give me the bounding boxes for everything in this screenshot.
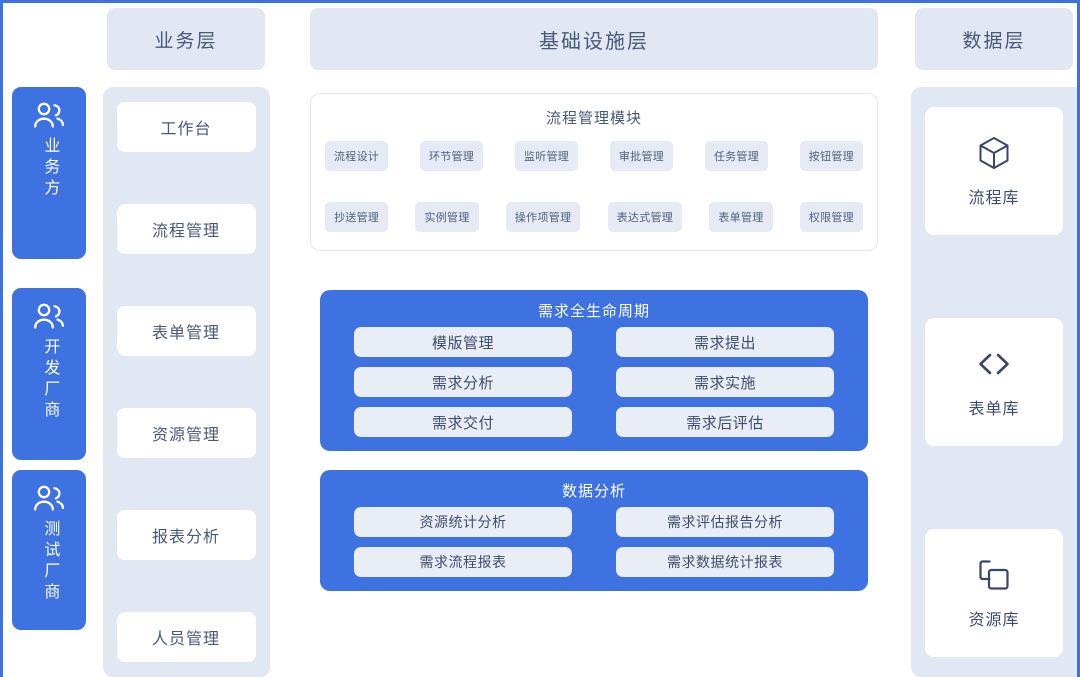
- role-card-dev-vendor[interactable]: 开发厂商: [12, 288, 86, 460]
- analysis-item-resource-statistics[interactable]: 资源统计分析: [354, 507, 572, 537]
- role-card-label: 开发厂商: [41, 338, 58, 422]
- tag-instance-management[interactable]: 实例管理: [415, 202, 478, 232]
- role-card-label: 业务方: [41, 137, 58, 200]
- data-layer-column: 数据层 流程库: [911, 3, 1077, 677]
- role-card-test-vendor[interactable]: 测试厂商: [12, 470, 86, 630]
- business-layer-column: 业务层 工作台 流程管理 表单管理 资源管理 报表分析 人员管理: [95, 3, 277, 677]
- infrastructure-layer-header: 基础设施层: [310, 8, 878, 70]
- data-layer-panel: 流程库 表单库: [911, 87, 1077, 677]
- data-card-resource-repository[interactable]: 资源库: [925, 529, 1063, 657]
- lifecycle-grid: 模版管理 需求提出 需求分析 需求实施 需求交付 需求后评估: [354, 327, 834, 437]
- role-rail: 业务方 开发厂商: [3, 3, 95, 677]
- business-layer-panel: 工作台 流程管理 表单管理 资源管理 报表分析 人员管理: [103, 87, 270, 677]
- data-card-label: 表单库: [968, 395, 1019, 419]
- cube-icon: [975, 134, 1013, 172]
- business-item-form-management[interactable]: 表单管理: [117, 306, 256, 356]
- data-analysis-panel: 数据分析 资源统计分析 需求评估报告分析 需求流程报表 需求数据统计报表: [320, 470, 868, 591]
- lifecycle-item-requirement-implementation[interactable]: 需求实施: [616, 367, 834, 397]
- analysis-item-requirement-process-report[interactable]: 需求流程报表: [354, 547, 572, 577]
- data-layer-header: 数据层: [915, 8, 1073, 70]
- tag-listener-management[interactable]: 监听管理: [515, 141, 578, 171]
- copy-stack-icon: [975, 556, 1013, 594]
- tag-cc-management[interactable]: 抄送管理: [325, 202, 388, 232]
- code-brackets-icon: [975, 345, 1013, 383]
- analysis-grid: 资源统计分析 需求评估报告分析 需求流程报表 需求数据统计报表: [354, 507, 834, 577]
- lifecycle-item-template-management[interactable]: 模版管理: [354, 327, 572, 357]
- lifecycle-item-requirement-submission[interactable]: 需求提出: [616, 327, 834, 357]
- requirement-lifecycle-panel: 需求全生命周期 模版管理 需求提出 需求分析 需求实施 需求交付 需求后评估: [320, 290, 868, 451]
- architecture-diagram: 业务方 开发厂商: [0, 0, 1080, 677]
- tag-permission-management[interactable]: 权限管理: [800, 202, 863, 232]
- tag-task-management[interactable]: 任务管理: [705, 141, 768, 171]
- process-tag-row-2: 抄送管理 实例管理 操作项管理 表达式管理 表单管理 权限管理: [325, 202, 863, 232]
- business-item-personnel-management[interactable]: 人员管理: [117, 612, 256, 662]
- diagram-canvas: 业务方 开发厂商: [3, 3, 1077, 677]
- role-card-business-side[interactable]: 业务方: [12, 87, 86, 259]
- analysis-panel-title: 数据分析: [354, 480, 834, 501]
- process-management-module: 流程管理模块 流程设计 环节管理 监听管理 审批管理 任务管理 按钮管理 抄送管…: [310, 93, 878, 251]
- process-module-title: 流程管理模块: [325, 107, 863, 128]
- users-icon: [32, 302, 66, 338]
- data-card-label: 流程库: [968, 184, 1019, 208]
- process-tag-row-1: 流程设计 环节管理 监听管理 审批管理 任务管理 按钮管理: [325, 141, 863, 171]
- lifecycle-item-requirement-analysis[interactable]: 需求分析: [354, 367, 572, 397]
- tag-approval-management[interactable]: 审批管理: [610, 141, 673, 171]
- infrastructure-layer-column: 基础设施层 流程管理模块 流程设计 环节管理 监听管理 审批管理 任务管理 按钮…: [277, 3, 911, 677]
- analysis-item-requirement-data-statistics-report[interactable]: 需求数据统计报表: [616, 547, 834, 577]
- tag-form-management[interactable]: 表单管理: [709, 202, 772, 232]
- data-card-label: 资源库: [968, 606, 1019, 630]
- role-card-label: 测试厂商: [41, 520, 58, 604]
- business-layer-header: 业务层: [107, 8, 265, 70]
- business-item-process-management[interactable]: 流程管理: [117, 204, 256, 254]
- analysis-item-requirement-evaluation-report[interactable]: 需求评估报告分析: [616, 507, 834, 537]
- tag-node-management[interactable]: 环节管理: [420, 141, 483, 171]
- lifecycle-panel-title: 需求全生命周期: [354, 300, 834, 321]
- business-item-report-analysis[interactable]: 报表分析: [117, 510, 256, 560]
- tag-process-design[interactable]: 流程设计: [325, 141, 388, 171]
- tag-expression-management[interactable]: 表达式管理: [608, 202, 683, 232]
- data-card-process-repository[interactable]: 流程库: [925, 107, 1063, 235]
- tag-button-management[interactable]: 按钮管理: [800, 141, 863, 171]
- users-icon: [32, 101, 66, 137]
- tag-operation-item-management[interactable]: 操作项管理: [506, 202, 581, 232]
- lifecycle-item-requirement-delivery[interactable]: 需求交付: [354, 407, 572, 437]
- users-icon: [32, 484, 66, 520]
- business-item-workbench[interactable]: 工作台: [117, 102, 256, 152]
- data-card-form-repository[interactable]: 表单库: [925, 318, 1063, 446]
- business-item-resource-management[interactable]: 资源管理: [117, 408, 256, 458]
- lifecycle-item-post-evaluation[interactable]: 需求后评估: [616, 407, 834, 437]
